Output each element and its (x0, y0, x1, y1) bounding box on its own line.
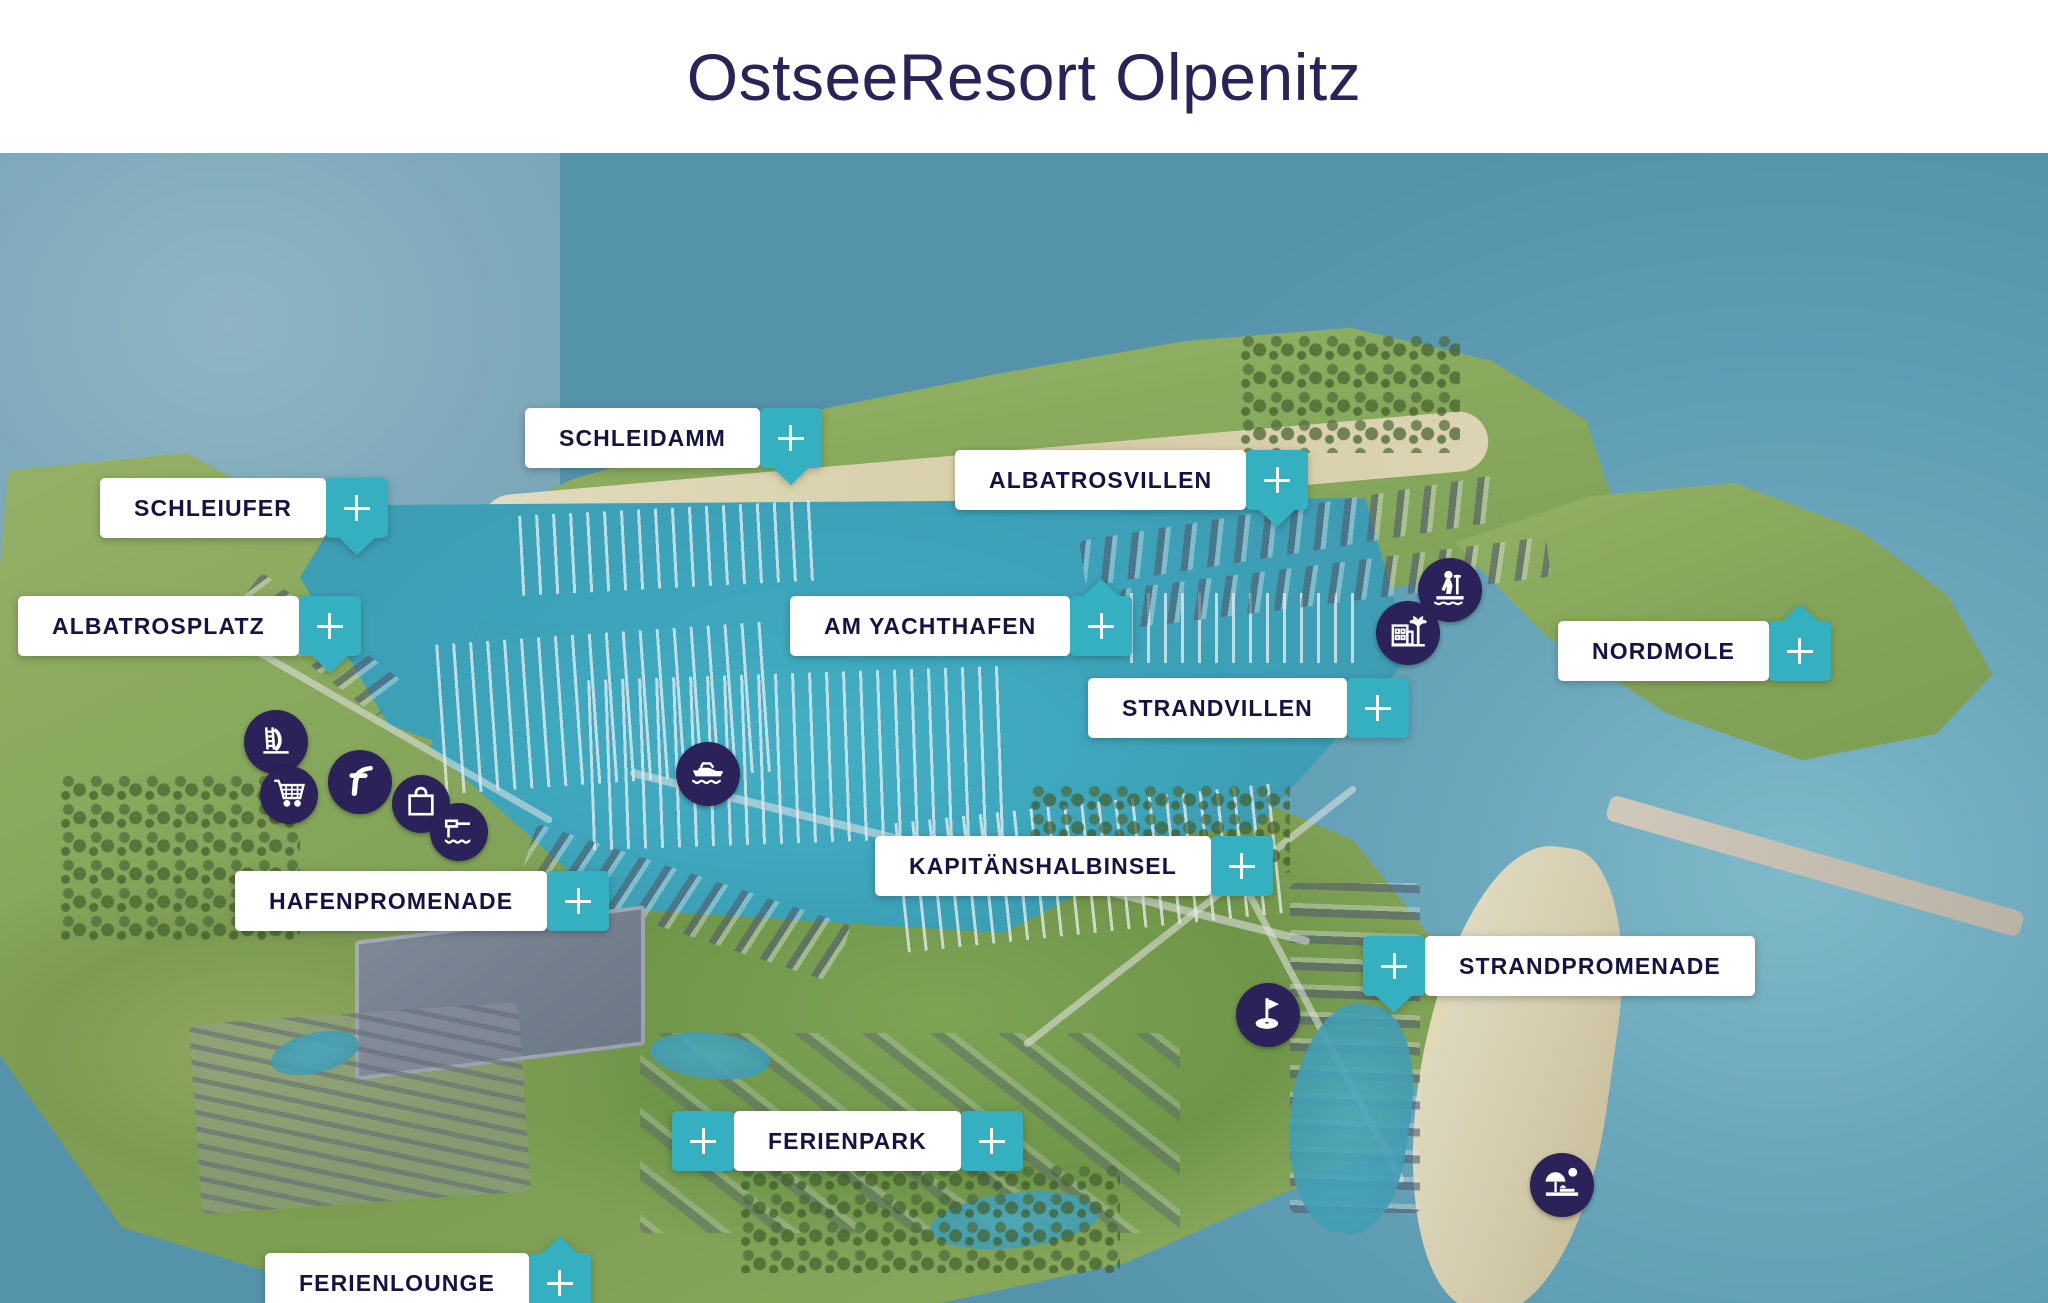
tree-cluster-north (1240, 333, 1460, 453)
hotspot-schleiufer[interactable]: SCHLEIUFER (100, 478, 388, 538)
hotspot-schleidamm[interactable]: SCHLEIDAMM (525, 408, 822, 468)
poi-marker-fitness[interactable] (328, 750, 392, 814)
hotspot-label-strandvillen: STRANDVILLEN (1088, 678, 1347, 738)
poi-marker-water-slide[interactable] (244, 710, 308, 774)
plus-button-albatrosplatz-right[interactable] (299, 596, 361, 656)
poi-marker-boat-ramp[interactable] (430, 803, 488, 861)
pier-group-a (518, 500, 822, 596)
plus-button-hafenpromenade-right[interactable] (547, 871, 609, 931)
hotspot-albatrosplatz[interactable]: ALBATROSPLATZ (18, 596, 361, 656)
plus-button-strandpromenade-left[interactable] (1363, 936, 1425, 996)
hotspot-label-ferienlounge: FERIENLOUNGE (265, 1253, 529, 1303)
plus-button-nordmole-right[interactable] (1769, 621, 1831, 681)
hotspot-label-albatrosplatz: ALBATROSPLATZ (18, 596, 299, 656)
hotspot-label-ferienpark: FERIENPARK (734, 1111, 961, 1171)
letter-f-icon (341, 761, 379, 804)
water-slide-icon (257, 721, 295, 764)
plus-button-ferienpark-left[interactable] (672, 1111, 734, 1171)
shopping-cart-icon (272, 776, 306, 815)
poi-marker-resort-town[interactable] (1376, 601, 1440, 665)
pointer-tail-down (772, 467, 810, 485)
hotspot-strandpromenade[interactable]: STRANDPROMENADE (1363, 936, 1755, 996)
hotspot-label-kapitaenshalbinsel: KAPITÄNSHALBINSEL (875, 836, 1211, 896)
plus-button-schleidamm-right[interactable] (760, 408, 822, 468)
poi-marker-motorboat[interactable] (676, 742, 740, 806)
boat-ramp-icon (442, 813, 476, 852)
paddleboard-icon (1431, 569, 1469, 612)
plus-button-kapitaenshalbinsel-right[interactable] (1211, 836, 1273, 896)
hotspot-label-schleidamm: SCHLEIDAMM (525, 408, 760, 468)
poi-marker-golf[interactable] (1236, 983, 1300, 1047)
plus-button-ferienpark-right[interactable] (961, 1111, 1023, 1171)
hotspot-kapitaenshalbinsel[interactable]: KAPITÄNSHALBINSEL (875, 836, 1273, 896)
pointer-tail-down (338, 537, 376, 555)
car-park (189, 1002, 531, 1215)
beach-umbrella-icon (1543, 1164, 1581, 1207)
resort-building-icon (1389, 612, 1427, 655)
hotspot-label-schleiufer: SCHLEIUFER (100, 478, 326, 538)
hotspot-label-am-yachthafen: AM YACHTHAFEN (790, 596, 1070, 656)
poi-marker-shopping[interactable] (260, 766, 318, 824)
motorboat-icon (689, 753, 727, 796)
page-title: OstseeResort Olpenitz (0, 0, 2048, 153)
hotspot-strandvillen[interactable]: STRANDVILLEN (1088, 678, 1409, 738)
pointer-tail-up (1781, 604, 1819, 622)
poi-marker-beach[interactable] (1530, 1153, 1594, 1217)
hotspot-label-albatrosvillen: ALBATROSVILLEN (955, 450, 1246, 510)
hotspot-ferienpark[interactable]: FERIENPARK (672, 1111, 1023, 1171)
resort-map[interactable]: SCHLEIDAMMSCHLEIUFERALBATROSVILLENALBATR… (0, 153, 2048, 1303)
pointer-tail-up (1082, 579, 1120, 597)
tree-cluster-south (740, 1163, 1120, 1273)
hotspot-albatrosvillen[interactable]: ALBATROSVILLEN (955, 450, 1308, 510)
plus-button-ferienlounge-right[interactable] (529, 1253, 591, 1303)
hotspot-hafenpromenade[interactable]: HAFENPROMENADE (235, 871, 609, 931)
plus-button-am-yachthafen-right[interactable] (1070, 596, 1132, 656)
pointer-tail-down (311, 655, 349, 673)
pointer-tail-up (541, 1236, 579, 1254)
pointer-tail-down (1375, 995, 1413, 1013)
hotspot-ferienlounge[interactable]: FERIENLOUNGE (265, 1253, 591, 1303)
golf-flag-icon (1249, 994, 1287, 1037)
hotspot-label-strandpromenade: STRANDPROMENADE (1425, 936, 1755, 996)
hotspot-nordmole[interactable]: NORDMOLE (1558, 621, 1831, 681)
plus-button-schleiufer-right[interactable] (326, 478, 388, 538)
hotspot-am-yachthafen[interactable]: AM YACHTHAFEN (790, 596, 1132, 656)
plus-button-strandvillen-right[interactable] (1347, 678, 1409, 738)
hotspot-label-nordmole: NORDMOLE (1558, 621, 1769, 681)
pointer-tail-down (1258, 509, 1296, 527)
hotspot-label-hafenpromenade: HAFENPROMENADE (235, 871, 547, 931)
plus-button-albatrosvillen-right[interactable] (1246, 450, 1308, 510)
